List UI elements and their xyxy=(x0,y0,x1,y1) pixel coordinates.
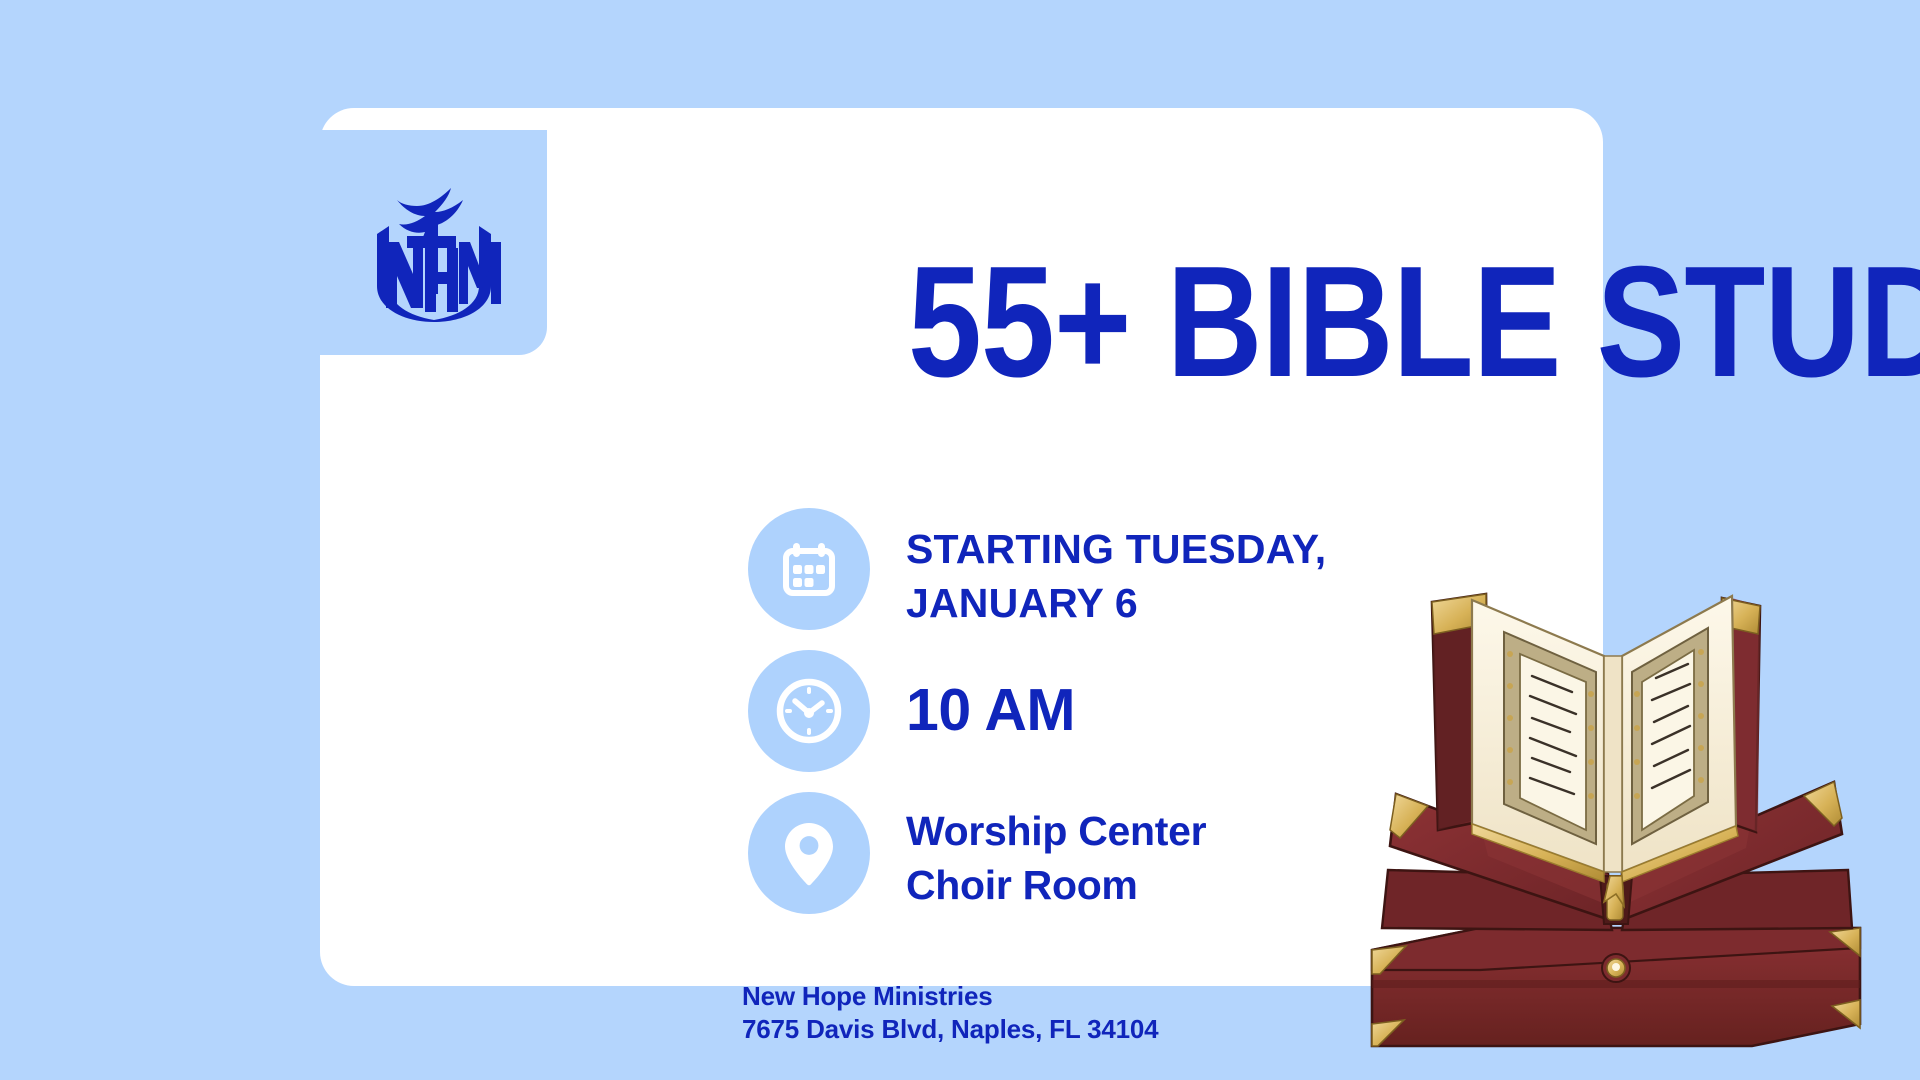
date-line-1: STARTING TUESDAY, xyxy=(906,522,1326,576)
map-pin-icon xyxy=(748,792,870,914)
calendar-icon xyxy=(748,508,870,630)
open-bible-illustration xyxy=(1360,576,1870,1066)
location-line-1: Worship Center xyxy=(906,804,1206,858)
clock-icon xyxy=(748,650,870,772)
page-title: 55+ BIBLE STUDY xyxy=(908,243,1920,401)
flyer-title: 55+ BIBLE STUDY xyxy=(908,232,1918,412)
organization-name: New Hope Ministries xyxy=(742,980,1158,1013)
location-line-2: Choir Room xyxy=(906,858,1206,912)
detail-text-location: Worship Center Choir Room xyxy=(870,792,1206,912)
detail-text-time: 10 AM xyxy=(870,650,1075,743)
detail-row-location: Worship Center Choir Room xyxy=(748,792,1448,914)
detail-text-date: STARTING TUESDAY, JANUARY 6 xyxy=(870,508,1326,630)
nhm-logo-icon xyxy=(359,182,509,322)
date-line-2: JANUARY 6 xyxy=(906,576,1326,630)
time-line-1: 10 AM xyxy=(906,678,1075,743)
detail-row-time: 10 AM xyxy=(748,650,1448,772)
logo-panel xyxy=(320,130,547,355)
event-details-list: STARTING TUESDAY, JANUARY 6 10 AM xyxy=(748,508,1448,934)
detail-row-date: STARTING TUESDAY, JANUARY 6 xyxy=(748,508,1448,630)
street-address: 7675 Davis Blvd, Naples, FL 34104 xyxy=(742,1013,1158,1046)
footer-address: New Hope Ministries 7675 Davis Blvd, Nap… xyxy=(742,980,1158,1046)
